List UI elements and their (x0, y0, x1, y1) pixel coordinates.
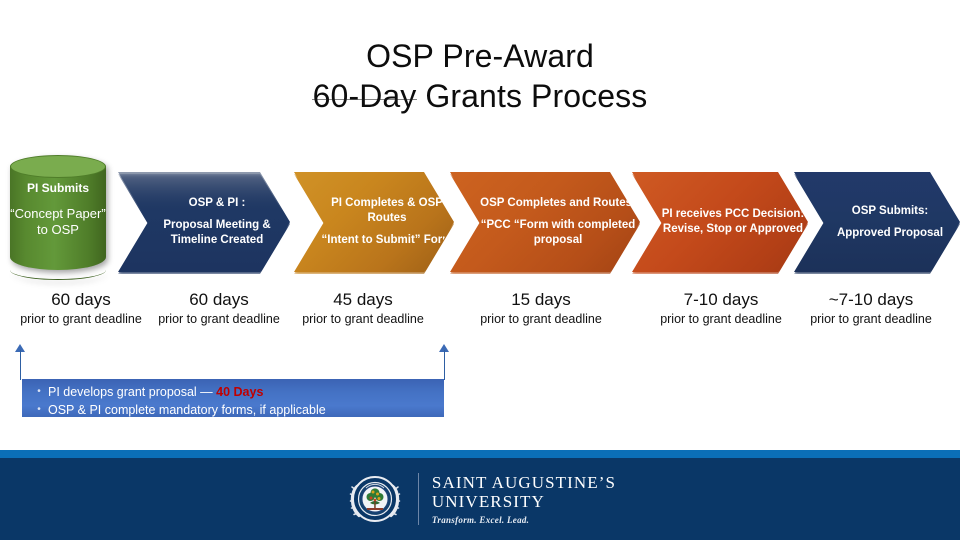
process-step-4-body: “PCC “Form with completed proposal (476, 218, 640, 247)
footer-logo-lockup: SAINT AUGUSTINE’S UNIVERSITY Transform. … (0, 458, 960, 540)
process-step-6-body: Approved Proposal (820, 226, 960, 241)
process-step-5-text: PI receives PCC Decision: Revise, Stop o… (632, 207, 808, 236)
timeline-caption-6-days: ~7-10 days (804, 289, 938, 310)
bullet-dot-icon: • (30, 384, 48, 400)
process-step-3-chevron[interactable]: PI Completes & OSP Routes “Intent to Sub… (294, 172, 454, 272)
university-name-line-1: SAINT AUGUSTINE’S (432, 473, 616, 492)
process-step-2-text: OSP & PI : Proposal Meeting & Timeline C… (118, 196, 290, 247)
process-step-3-heading: PI Completes & OSP Routes (320, 196, 454, 225)
callout-bullet-1-accent: 40 Days (216, 385, 263, 399)
process-step-2-chevron[interactable]: OSP & PI : Proposal Meeting & Timeline C… (118, 172, 290, 272)
timeline-caption-5: 7-10 days prior to grant deadline (654, 289, 788, 327)
timeline-caption-2-days: 60 days (152, 289, 286, 310)
page-title: OSP Pre-Award 60-Day Grants Process (0, 38, 960, 116)
timeline-caption-1-days: 60 days (14, 289, 148, 310)
process-step-6-heading: OSP Submits: (820, 204, 960, 219)
process-step-4-chevron[interactable]: OSP Completes and Routes: “PCC “Form wit… (450, 172, 640, 272)
timeline-caption-3: 45 days prior to grant deadline (296, 289, 430, 327)
timeline-caption-6-sub: prior to grant deadline (804, 311, 938, 327)
title-emphasis-60-day: 60-Day (313, 78, 417, 116)
timeline-caption-1-sub: prior to grant deadline (14, 311, 148, 327)
university-wordmark: SAINT AUGUSTINE’S UNIVERSITY Transform. … (418, 473, 616, 525)
university-name-line-2: UNIVERSITY (432, 492, 616, 511)
process-step-6-text: OSP Submits: Approved Proposal (794, 204, 960, 240)
process-step-1-cylinder[interactable]: PI Submits “Concept Paper” to OSP (10, 155, 106, 279)
timeline-caption-4: 15 days prior to grant deadline (474, 289, 608, 327)
process-step-1-text: PI Submits “Concept Paper” to OSP (10, 181, 106, 239)
span-arrow-left-icon (15, 344, 26, 380)
slide-canvas: OSP Pre-Award 60-Day Grants Process PI S… (0, 0, 960, 540)
process-step-1-body: “Concept Paper” to OSP (10, 206, 106, 240)
process-step-4-text: OSP Completes and Routes: “PCC “Form wit… (450, 196, 640, 247)
callout-bullet-1-label: PI develops grant proposal — (48, 385, 216, 399)
timeline-caption-5-days: 7-10 days (654, 289, 788, 310)
callout-box: • PI develops grant proposal — 40 Days •… (22, 379, 444, 417)
timeline-caption-4-days: 15 days (474, 289, 608, 310)
university-tagline: Transform. Excel. Lead. (432, 515, 616, 525)
callout-bullet-1-text: PI develops grant proposal — 40 Days (48, 384, 263, 402)
process-flow: PI Submits “Concept Paper” to OSP OSP & … (0, 150, 960, 290)
timeline-caption-4-sub: prior to grant deadline (474, 311, 608, 327)
process-step-5-chevron[interactable]: PI receives PCC Decision: Revise, Stop o… (632, 172, 808, 272)
process-step-6-chevron[interactable]: OSP Submits: Approved Proposal (794, 172, 960, 272)
timeline-caption-6: ~7-10 days prior to grant deadline (804, 289, 938, 327)
university-seal-icon (344, 468, 406, 530)
cylinder-bottom-edge (10, 260, 106, 280)
timeline-caption-2-sub: prior to grant deadline (152, 311, 286, 327)
timeline-caption-5-sub: prior to grant deadline (654, 311, 788, 327)
arrow-stem-right (444, 350, 445, 380)
process-step-3-body: “Intent to Submit” Form (320, 233, 454, 248)
timeline-caption-2: 60 days prior to grant deadline (152, 289, 286, 327)
title-line-1: OSP Pre-Award (0, 38, 960, 76)
footer-accent-strip (0, 450, 960, 458)
timeline-caption-1: 60 days prior to grant deadline (14, 289, 148, 327)
span-arrow-right-icon (439, 344, 450, 380)
process-step-3-text: PI Completes & OSP Routes “Intent to Sub… (294, 196, 454, 247)
arrow-stem-left (20, 350, 21, 380)
title-line-2-rest: Grants Process (416, 78, 647, 114)
timeline-caption-3-sub: prior to grant deadline (296, 311, 430, 327)
callout-bullet-2: • OSP & PI complete mandatory forms, if … (30, 402, 444, 420)
process-step-4-heading: OSP Completes and Routes: (476, 196, 640, 211)
timeline-caption-3-days: 45 days (296, 289, 430, 310)
process-step-2-heading: OSP & PI : (144, 196, 290, 211)
cylinder-top-ellipse (10, 155, 106, 178)
callout-bullet-2-text: OSP & PI complete mandatory forms, if ap… (48, 402, 326, 420)
bullet-dot-icon: • (30, 402, 48, 418)
process-step-5-heading: PI receives PCC Decision: Revise, Stop o… (658, 207, 808, 236)
process-step-2-body: Proposal Meeting & Timeline Created (144, 218, 290, 247)
process-step-1-heading: PI Submits (10, 181, 106, 197)
title-line-2: 60-Day Grants Process (0, 78, 960, 116)
callout-bullet-1: • PI develops grant proposal — 40 Days (30, 384, 444, 402)
